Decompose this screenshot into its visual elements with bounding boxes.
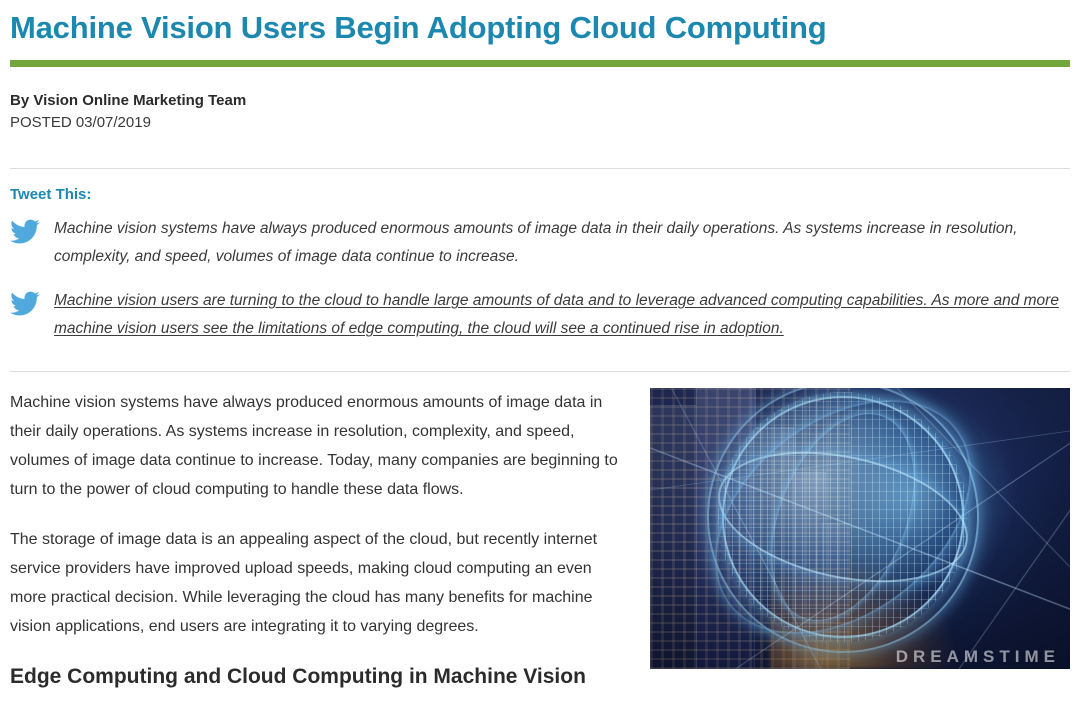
article-body: DREAMSTIME Machine vision systems have a… [10, 372, 1070, 692]
tweet-this-heading: Tweet This: [10, 169, 1070, 205]
tweet-text-link[interactable]: Machine vision users are turning to the … [54, 287, 1070, 343]
byline-posted-date: POSTED 03/07/2019 [10, 111, 1070, 134]
image-watermark: DREAMSTIME [896, 647, 1060, 667]
tweet-text[interactable]: Machine vision systems have always produ… [54, 215, 1070, 271]
byline: By Vision Online Marketing Team POSTED 0… [10, 67, 1070, 134]
twitter-bird-icon[interactable] [10, 219, 40, 245]
byline-author: By Vision Online Marketing Team [10, 90, 1070, 111]
article-page: Machine Vision Users Begin Adopting Clou… [0, 0, 1080, 705]
article-hero-image: DREAMSTIME [650, 388, 1070, 669]
page-title: Machine Vision Users Begin Adopting Clou… [10, 0, 1070, 50]
photo-vignette [650, 388, 1070, 669]
tweet-list: Machine vision systems have always produ… [10, 205, 1070, 343]
green-divider [10, 60, 1070, 67]
tweet-item[interactable]: Machine vision systems have always produ… [10, 215, 1070, 271]
twitter-bird-icon[interactable] [10, 291, 40, 317]
tweet-item[interactable]: Machine vision users are turning to the … [10, 287, 1070, 343]
